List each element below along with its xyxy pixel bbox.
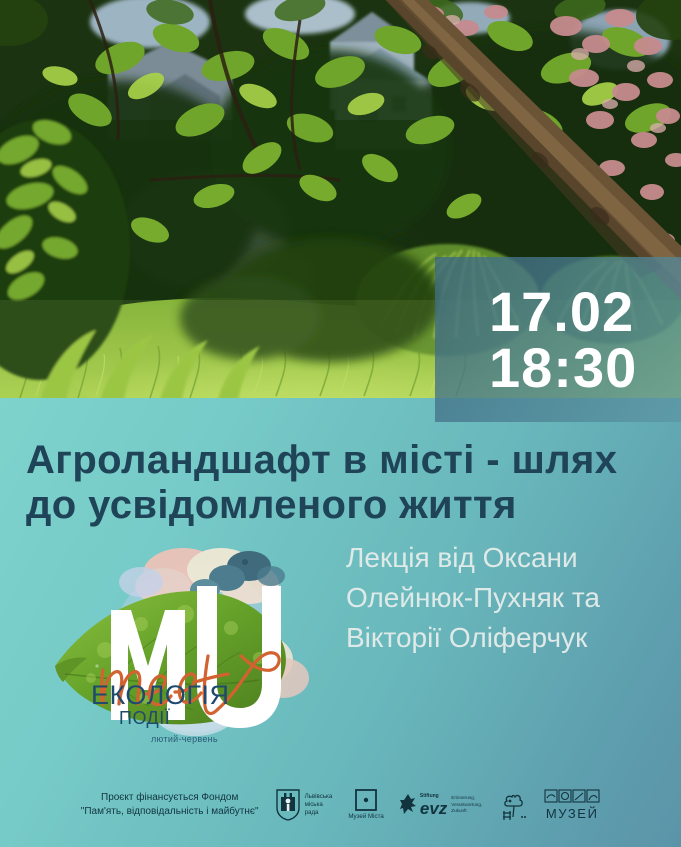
lviv-coat-of-arms-icon <box>275 788 301 822</box>
page-title: Агроландшафт в місті - шлях до усвідомле… <box>26 438 676 528</box>
evz-splash-icon <box>400 793 416 817</box>
logo-line-events: ПОДІЇ <box>119 708 170 728</box>
stiftung-evz-logo: Stiftung evz Erinnerung, Verantwortung, … <box>400 793 482 817</box>
tree-bench-icon <box>498 789 528 821</box>
logo-line-ecology: ЕКОЛОГІЯ <box>91 680 229 710</box>
city-museum-label: Музей Міста <box>348 813 384 821</box>
funding-line-2: "Пам'ять, відповідальність і майбутнє" <box>81 805 259 820</box>
lviv-city-council-label: Львівська міська рада <box>305 793 333 817</box>
event-datetime-block: 17.02 18:30 <box>435 257 681 422</box>
city-museum-logo: Музей Міста <box>348 789 384 821</box>
evz-subtitle: Erinnerung, Verantwortung, Zukunft <box>451 795 482 815</box>
speakers-text: Лекція від Оксани Олейнюк-Пухняк та Вікт… <box>346 538 666 657</box>
tree-bench-logo <box>498 789 528 821</box>
evz-wordmark: evz <box>420 800 447 817</box>
footer: Проєкт фінансується Фондом "Пам'ять, від… <box>0 775 681 835</box>
funding-line-1: Проєкт фінансується Фондом <box>81 791 259 806</box>
logo-line-months: лютий-червень <box>151 734 218 744</box>
muzey-wordmark: МУЗЕЙ <box>546 806 599 821</box>
mu-meet-ecology-logo: ЕКОЛОГІЯ ПОДІЇ лютий-червень <box>45 548 335 753</box>
funding-statement: Проєкт фінансується Фондом "Пам'ять, від… <box>81 791 259 820</box>
event-time: 18:30 <box>489 340 637 395</box>
event-date: 17.02 <box>489 284 634 339</box>
muzey-squares-icon <box>544 789 600 805</box>
lviv-city-council-logo: Львівська міська рада <box>275 788 333 822</box>
event-poster: 17.02 18:30 Агроландшафт в місті - шлях … <box>0 0 681 847</box>
muzey-logo: МУЗЕЙ <box>544 789 600 821</box>
museum-square-icon <box>355 789 377 811</box>
